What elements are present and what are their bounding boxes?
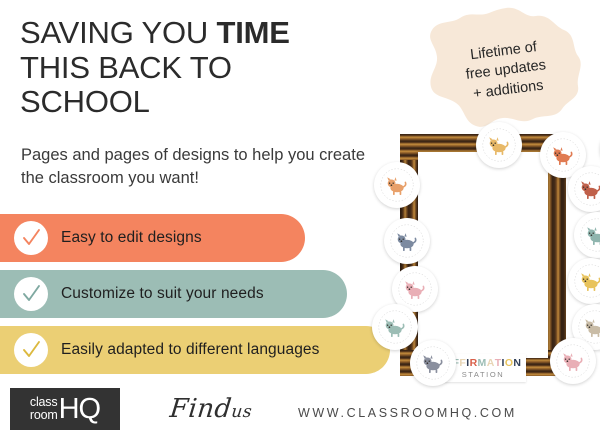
sticker-dog-4 [374,162,420,208]
dog-illustration-icon [390,224,424,258]
website-url[interactable]: WWW.CLASSROOMHQ.COM [298,406,517,420]
dog-illustration-icon [378,310,412,344]
classroomhq-logo: class room HQ [10,388,120,430]
check-icon [21,228,41,248]
dog-illustration-icon [574,172,600,206]
feature-label: Easy to edit designs [61,229,202,247]
product-label-station: STATION [462,371,505,379]
check-circle [14,221,48,255]
find-us-main: Find [168,394,233,424]
check-icon [21,284,41,304]
feature-label: Easily adapted to different languages [61,341,320,359]
dog-illustration-icon [580,218,600,252]
dog-illustration-icon [380,168,414,202]
feature-pill-2: Customize to suit your needs [0,270,347,318]
feature-pill-3: Easily adapted to different languages [0,326,390,374]
sticker-dog-9 [568,258,600,304]
sticker-dog-11 [372,304,418,350]
feature-pill-1: Easy to edit designs [0,214,305,262]
sticker-dog-12 [410,340,456,386]
headline-line2: THIS BACK TO [20,50,232,85]
sticker-dog-5 [568,166,600,212]
check-circle [14,333,48,367]
check-icon [21,340,41,360]
headline-line3: SCHOOL [20,84,150,119]
product-mockup: AFFIRMATION STATION [372,126,596,388]
logo-hq-mark: HQ [59,396,101,423]
dog-illustration-icon [556,344,590,378]
dog-illustration-icon [482,128,516,162]
find-us-script: Findus [168,394,254,424]
dog-illustration-icon [574,264,600,298]
logo-line-2: room [30,409,58,422]
poster-canvas: SAVING YOU TIME THIS BACK TO SCHOOL Page… [0,0,600,436]
label-letter: N [513,358,521,369]
find-us-small: us [230,402,253,422]
label-letter: T [495,358,502,369]
headline-line1-bold: TIME [217,15,290,50]
dog-illustration-icon [398,272,432,306]
sticker-dog-7 [384,218,430,264]
page-title: SAVING YOU TIME THIS BACK TO SCHOOL [20,16,380,120]
label-letter: F [459,358,466,369]
feature-label: Customize to suit your needs [61,285,264,303]
dog-illustration-icon [546,138,580,172]
lifetime-updates-badge: Lifetime of free updates + additions [420,4,592,138]
sticker-dog-1 [476,122,522,168]
sticker-dog-6 [574,212,600,258]
headline-line1-pre: SAVING YOU [20,15,217,50]
label-letter: R [470,358,478,369]
product-label-affirmation: AFFIRMATION [445,358,522,369]
label-letter: O [505,358,514,369]
label-letter: M [478,358,487,369]
label-letter: A [487,358,495,369]
poster-blank [418,152,548,358]
check-circle [14,277,48,311]
subheading: Pages and pages of designs to help you c… [21,144,371,191]
sticker-dog-13 [550,338,596,384]
dog-illustration-icon [416,346,450,380]
